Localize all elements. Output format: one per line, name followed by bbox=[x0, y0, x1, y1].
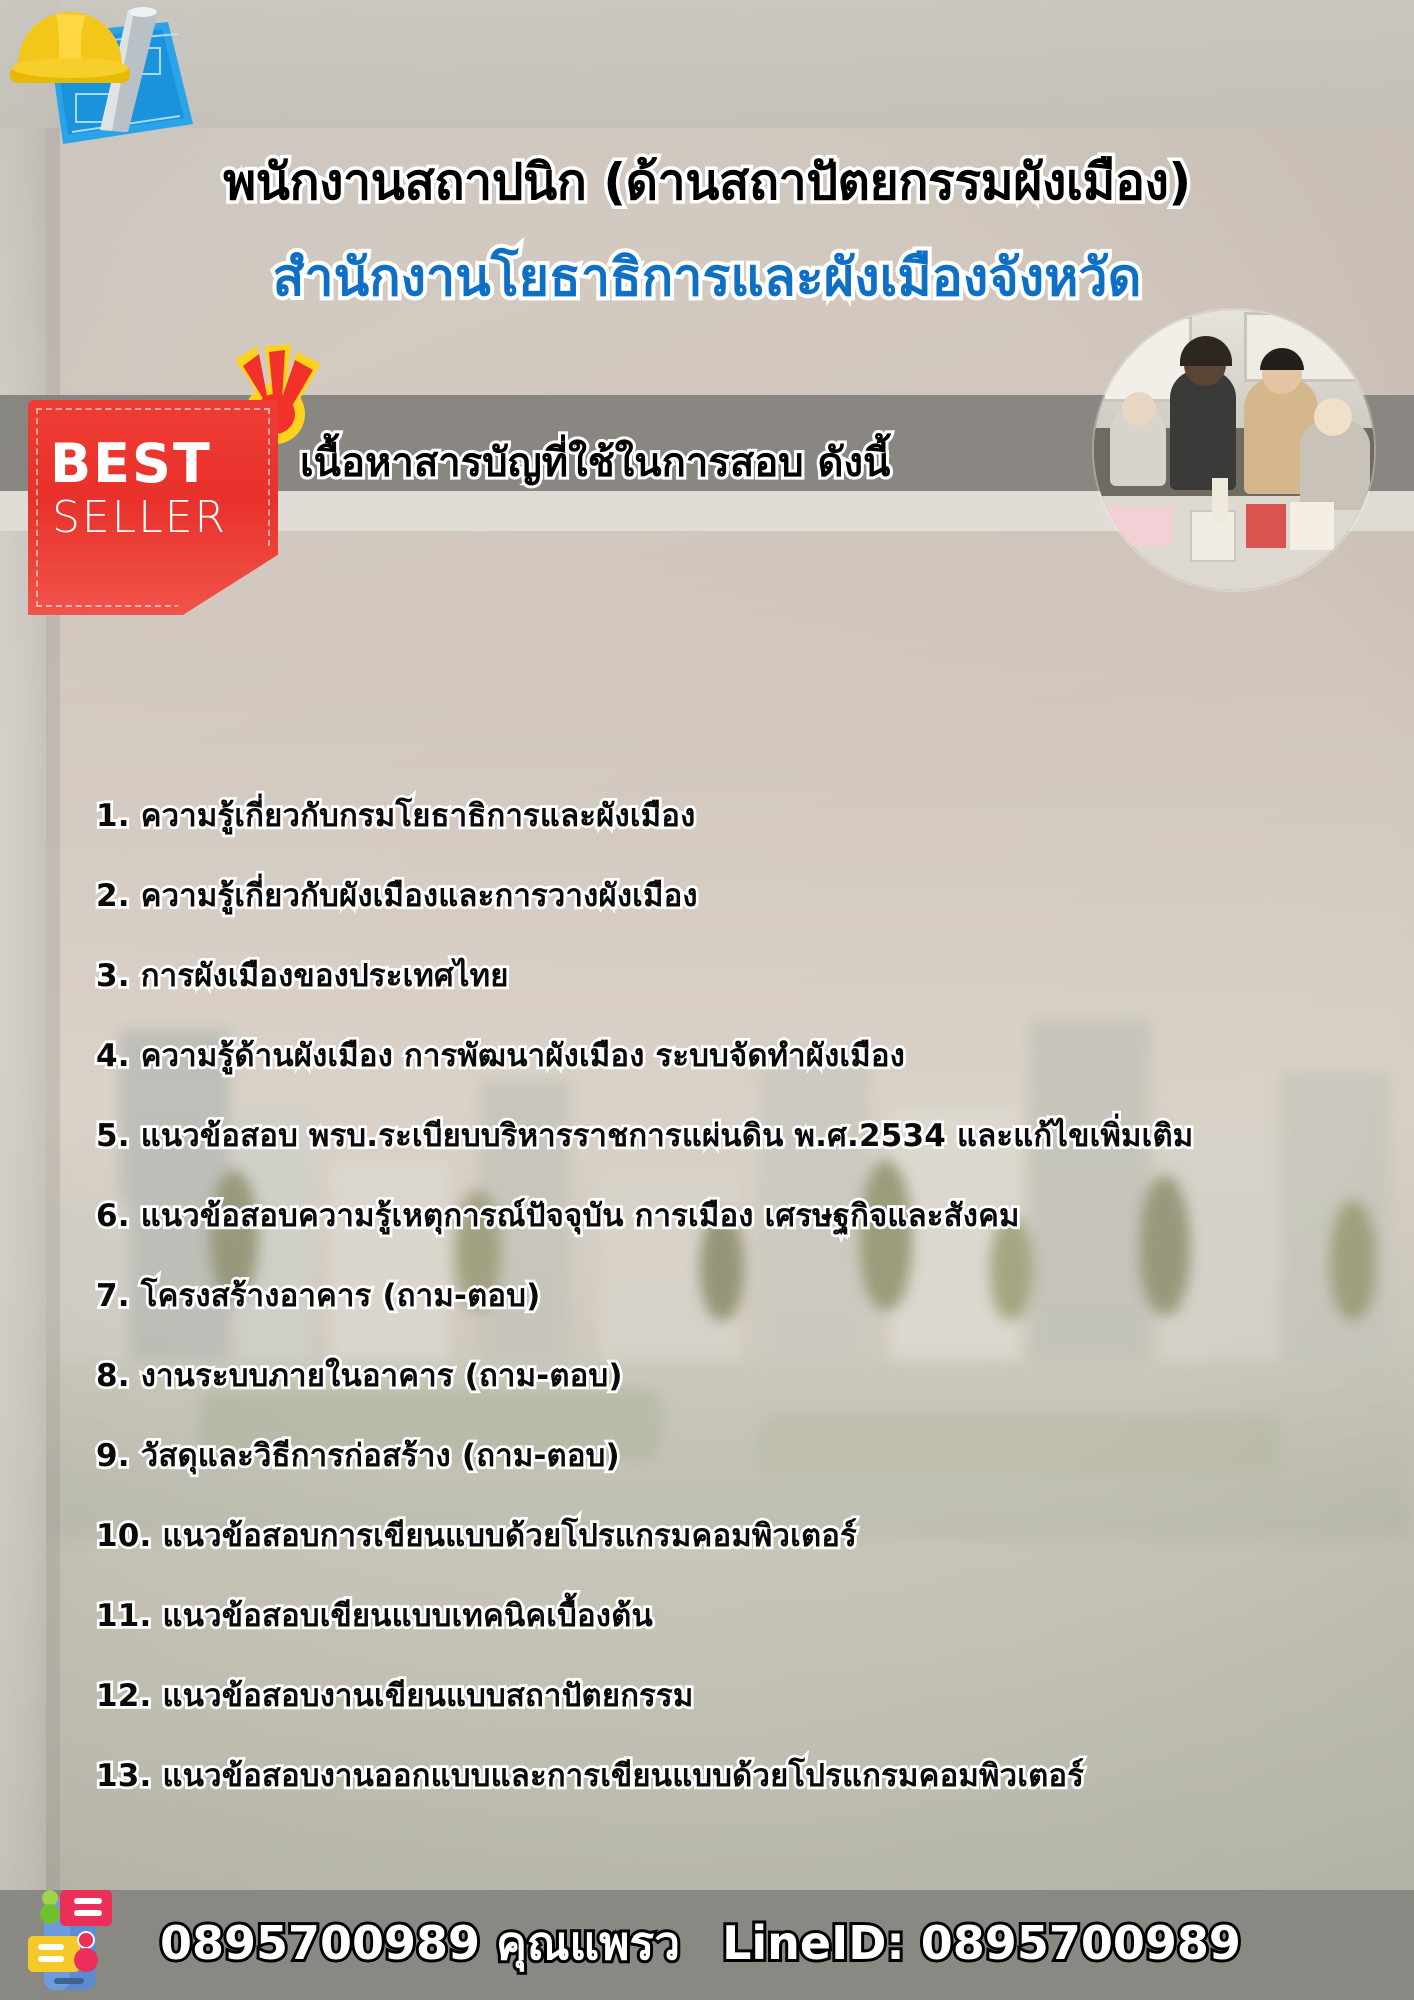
list-item: 9. วัสดุและวิธีการก่อสร้าง (ถาม-ตอบ) bbox=[96, 1430, 1374, 1480]
footer-line-id: LineID: 0895700989 bbox=[722, 1916, 1241, 1970]
footer-bar: 0895700989 คุณแพรว LineID: 0895700989 bbox=[0, 1890, 1414, 2000]
page-title: พนักงานสถาปนิก (ด้านสถาปัตยกรรมผังเมือง) bbox=[0, 143, 1414, 222]
best-seller-badge: BEST SELLER bbox=[10, 340, 300, 620]
list-item: 10. แนวข้อสอบการเขียนแบบด้วยโปรแกรมคอมพิ… bbox=[96, 1510, 1374, 1560]
page-subtitle: สำนักงานโยธาธิการและผังเมืองจังหวัด bbox=[0, 235, 1414, 318]
list-item: 8. งานระบบภายในอาคาร (ถาม-ตอบ) bbox=[96, 1350, 1374, 1400]
badge-seller-label: SELLER bbox=[52, 492, 267, 543]
footer-contact: 0895700989 คุณแพรว LineID: 0895700989 bbox=[160, 1907, 1267, 1980]
hard-hat-blueprint-icon bbox=[8, 4, 218, 154]
list-item: 5. แนวข้อสอบ พรบ.ระเบียบบริหารราชการแผ่น… bbox=[96, 1110, 1374, 1160]
list-item: 2. ความรู้เกี่ยวกับผังเมืองและการวางผังเ… bbox=[96, 870, 1374, 920]
list-item: 6. แนวข้อสอบความรู้เหตุการณ์ปัจจุบัน การ… bbox=[96, 1190, 1374, 1240]
list-item: 12. แนวข้อสอบงานเขียนแบบสถาปัตยกรรม bbox=[96, 1670, 1374, 1720]
content-list: 1. ความรู้เกี่ยวกับกรมโยธาธิการและผังเมื… bbox=[96, 790, 1374, 1830]
banner-title: เนื้อหาสารบัญที่ใช้ในการสอบ ดังนี้ bbox=[300, 430, 890, 494]
list-item: 7. โครงสร้างอาคาร (ถาม-ตอบ) bbox=[96, 1270, 1374, 1320]
contact-card-icon bbox=[14, 1890, 124, 1994]
list-item: 13. แนวข้อสอบงานออกแบบและการเขียนแบบด้วย… bbox=[96, 1750, 1374, 1800]
list-item: 3. การผังเมืองของประเทศไทย bbox=[96, 950, 1374, 1000]
badge-best-label: BEST bbox=[50, 432, 260, 495]
list-item: 1. ความรู้เกี่ยวกับกรมโยธาธิการและผังเมื… bbox=[96, 790, 1374, 840]
list-item: 4. ความรู้ด้านผังเมือง การพัฒนาผังเมือง … bbox=[96, 1030, 1374, 1080]
poster-root: พนักงานสถาปนิก (ด้านสถาปัตยกรรมผังเมือง)… bbox=[0, 0, 1414, 2000]
team-meeting-photo bbox=[1094, 310, 1374, 590]
footer-phone: 0895700989 คุณแพรว bbox=[160, 1916, 680, 1970]
list-item: 11. แนวข้อสอบเขียนแบบเทคนิคเบื้องต้น bbox=[96, 1590, 1374, 1640]
